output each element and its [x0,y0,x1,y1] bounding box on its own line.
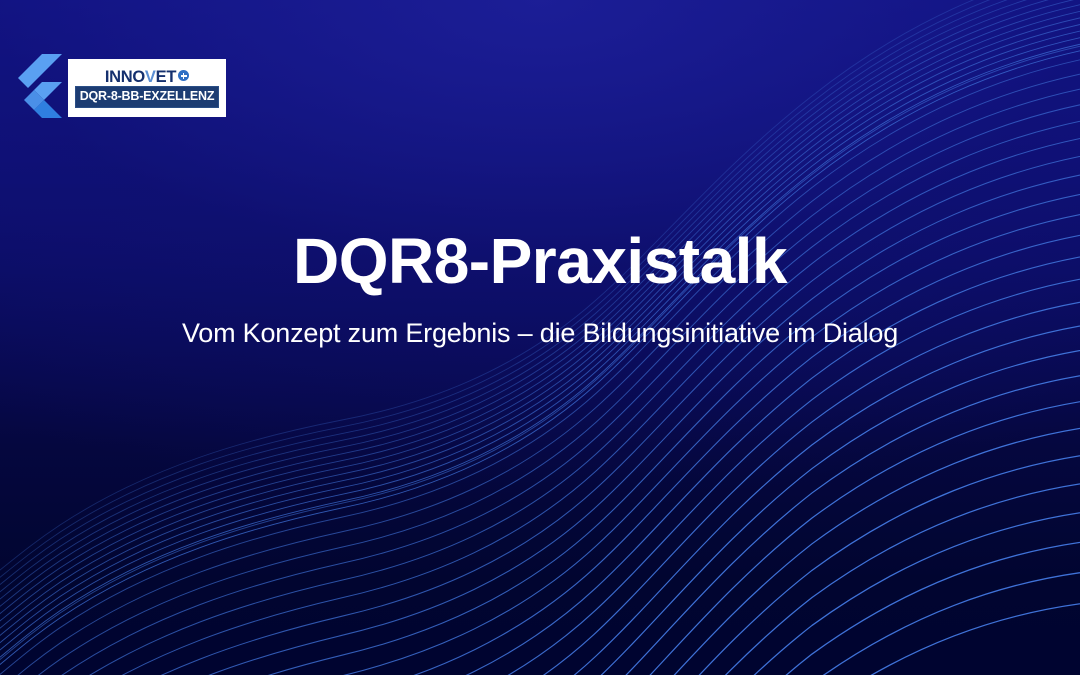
page-subtitle: Vom Konzept zum Ergebnis – die Bildungsi… [0,317,1080,349]
presentation-slide: INNOVET DQR-8-BB-EXZELLENZ DQR8-Praxista… [0,0,1080,675]
page-title: DQR8-Praxistalk [0,228,1080,295]
flutter-logo-icon [8,52,64,124]
innovet-prefix: INNO [105,69,145,86]
innovet-suffix: ET [156,69,176,86]
plus-badge-icon [178,70,189,81]
innovet-highlight-letter: V [145,69,156,86]
innovet-wordmark: INNOVET [105,69,189,86]
hero-text-block: DQR8-Praxistalk Vom Konzept zum Ergebnis… [0,228,1080,350]
dqr-exzellenz-bar: DQR-8-BB-EXZELLENZ [75,86,220,108]
logo-lockup[interactable]: INNOVET DQR-8-BB-EXZELLENZ [8,52,226,124]
innovet-logo-card: INNOVET DQR-8-BB-EXZELLENZ [68,59,226,117]
